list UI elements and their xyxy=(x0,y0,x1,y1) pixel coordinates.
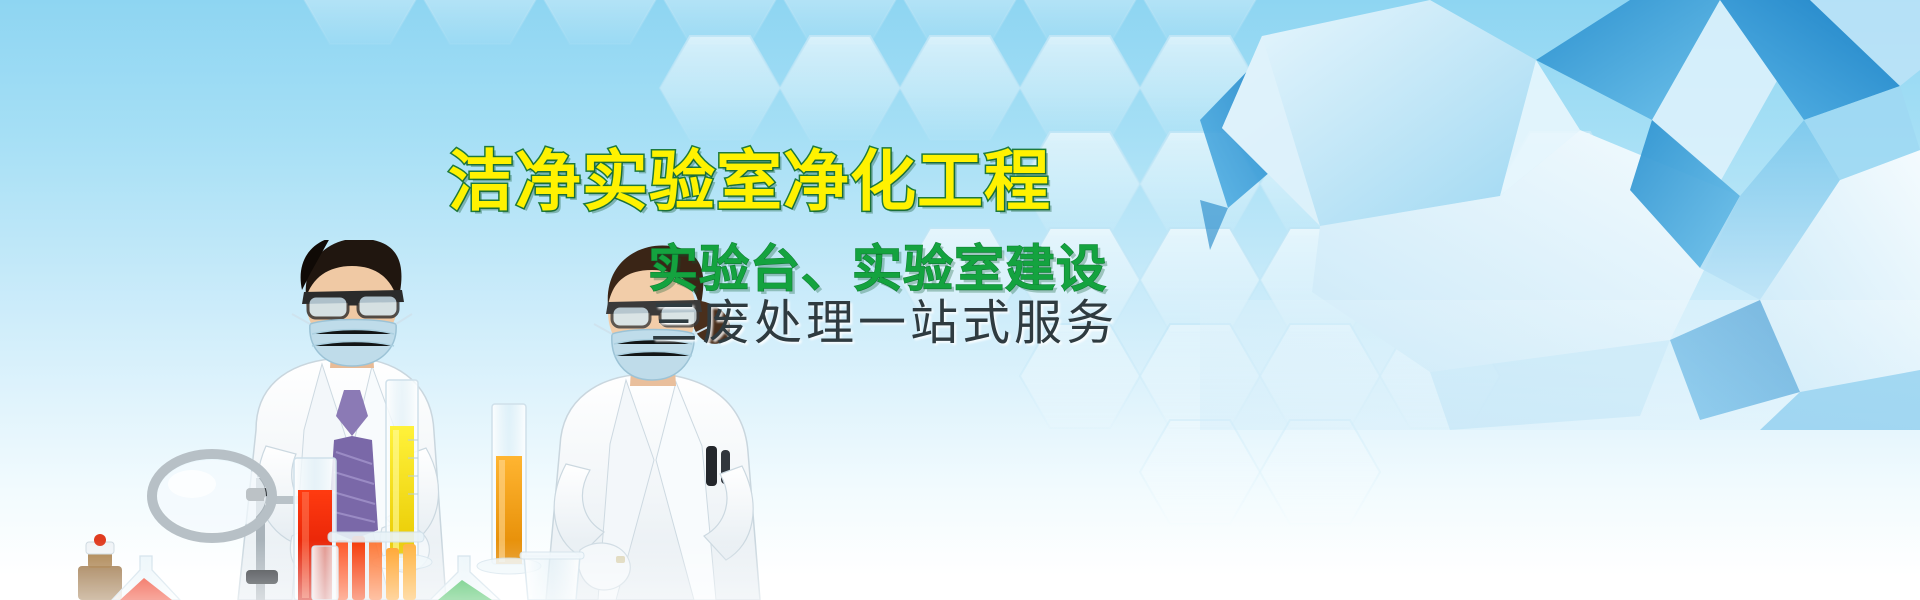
red-erlenmeyer-flask xyxy=(112,556,180,600)
green-erlenmeyer-flask xyxy=(430,556,500,600)
banner-tagline: 三废处理一站式服务 xyxy=(650,300,1118,348)
banner-subtitle: 实验台、实验室建设 xyxy=(648,244,1107,294)
amber-reagent-bottle xyxy=(78,534,122,600)
hexagon-pattern xyxy=(0,0,1920,600)
amber-liquid-tube xyxy=(477,404,541,574)
clear-beaker xyxy=(520,552,584,600)
lab-technicians-photo xyxy=(60,240,880,600)
lab-cleanroom-banner: 洁净实验室净化工程 实验台、实验室建设 三废处理一站式服务 xyxy=(0,0,1920,600)
yellow-liquid-cylinder xyxy=(372,380,432,570)
red-liquid-cylinder xyxy=(294,458,336,600)
magnifier-stand xyxy=(152,454,322,600)
test-tube-rack xyxy=(328,532,424,600)
banner-text-block: 洁净实验室净化工程 实验台、实验室建设 三废处理一站式服务 xyxy=(0,0,1920,600)
female-technician xyxy=(546,245,760,600)
banner-headline: 洁净实验室净化工程 xyxy=(448,148,1051,214)
male-technician xyxy=(238,240,446,600)
crystal-cluster-graphic xyxy=(1200,0,1920,430)
clear-cylinder xyxy=(312,546,338,600)
